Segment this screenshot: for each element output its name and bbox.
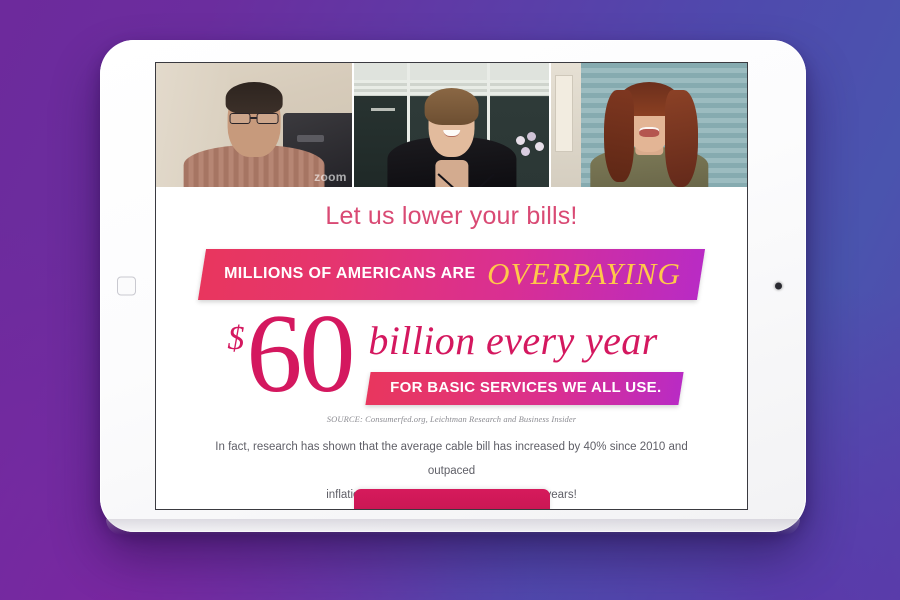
video-tile-participant-2[interactable]: [354, 63, 552, 187]
zoom-watermark: zoom: [314, 170, 347, 184]
presentation-slide: Let us lower your bills! MILLIONS OF AME…: [156, 187, 747, 509]
desk-lamp: [371, 108, 394, 111]
front-camera-icon: [775, 283, 782, 290]
home-button-icon[interactable]: [117, 277, 136, 296]
body-copy-line-1: In fact, research has shown that the ave…: [204, 435, 699, 483]
participant-2-hair: [424, 88, 479, 125]
overpaying-banner-emphasis: OVERPAYING: [487, 256, 681, 292]
wall-frame: [555, 75, 573, 152]
source-attribution: SOURCE: Consumerfed.org, Leichtman Resea…: [156, 414, 747, 424]
basic-services-banner: FOR BASIC SERVICES WE ALL USE.: [366, 372, 684, 405]
tablet-device: zoom: [100, 40, 806, 532]
eyeglasses-icon: [229, 113, 278, 124]
big-figure-right-group: billion every year FOR BASIC SERVICES WE…: [368, 306, 681, 405]
printer-slot: [297, 135, 324, 142]
participant-3-mouth: [639, 127, 659, 137]
participant-3-hair-right: [665, 90, 698, 187]
video-tile-participant-1[interactable]: zoom: [156, 63, 354, 187]
big-figure-row: $ 60 billion every year FOR BASIC SERVIC…: [156, 306, 747, 405]
basic-services-banner-text: FOR BASIC SERVICES WE ALL USE.: [391, 379, 662, 396]
video-tile-participant-3[interactable]: [551, 63, 747, 187]
video-call-strip: zoom: [156, 63, 747, 187]
participant-1-hair: [225, 82, 282, 114]
participant-3-hair-left: [604, 90, 633, 182]
flower-vase: [512, 132, 545, 187]
big-figure-unit: billion every year: [368, 320, 681, 362]
big-figure-amount: 60: [246, 306, 352, 402]
overpaying-banner-lead: MILLIONS OF AMERICANS ARE: [224, 265, 475, 283]
tablet-screen: zoom: [155, 62, 748, 510]
currency-symbol: $: [227, 320, 244, 358]
slide-headline: Let us lower your bills!: [156, 203, 747, 237]
overpaying-banner: MILLIONS OF AMERICANS AREOVERPAYING: [198, 249, 706, 300]
big-figure-amount-group: $ 60: [227, 306, 352, 402]
cta-button[interactable]: [354, 489, 550, 510]
